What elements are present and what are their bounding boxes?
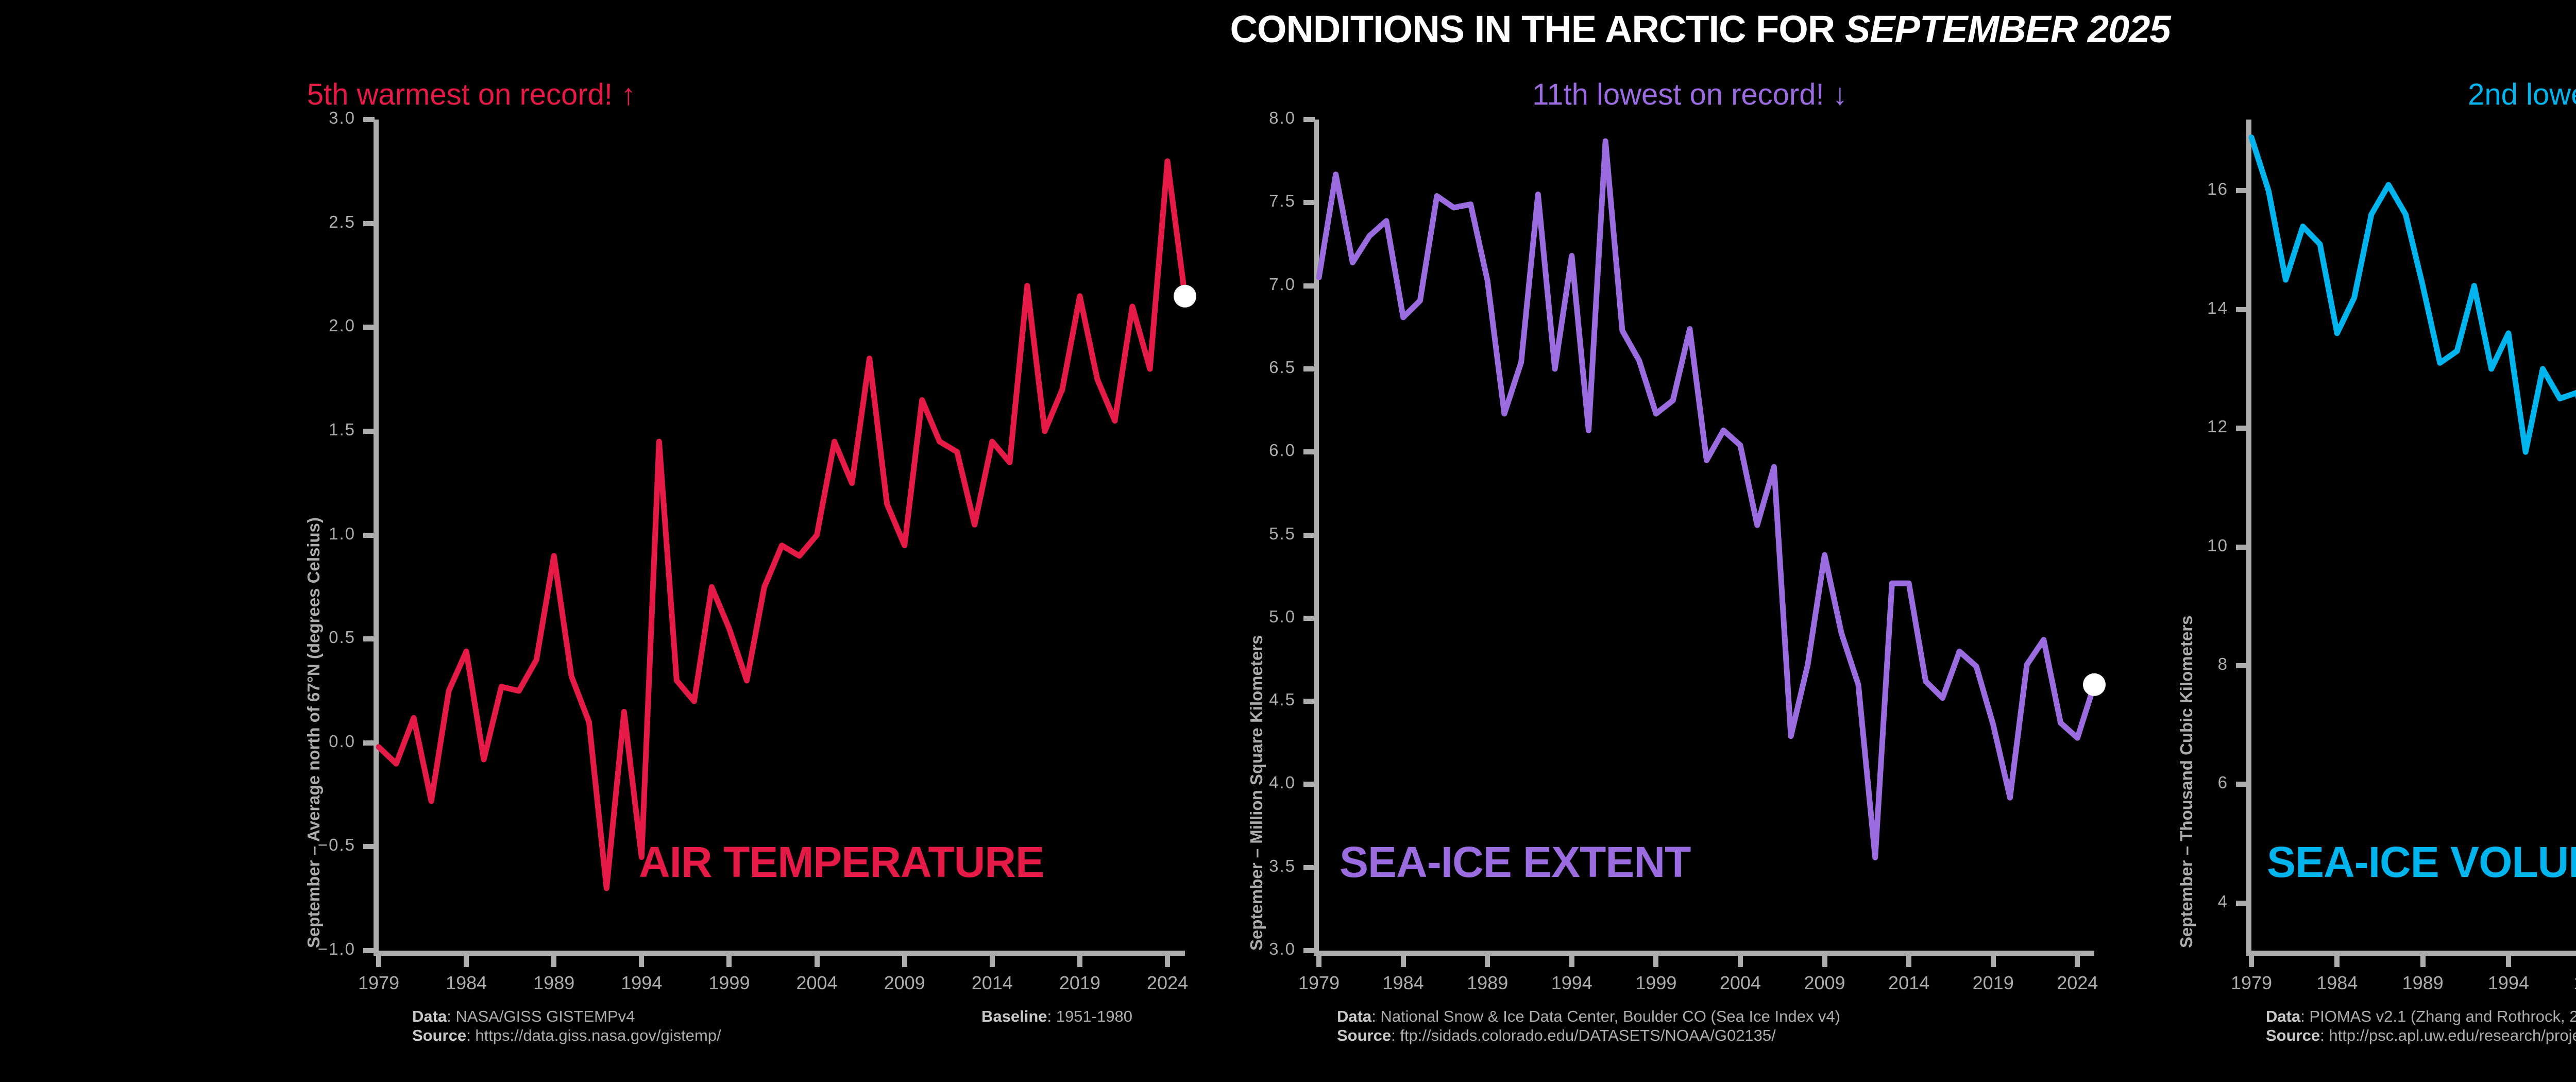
x-tick-air-temperature — [464, 956, 469, 967]
y-tick-sea-ice-extent — [1303, 366, 1315, 371]
x-tick-sea-ice-volume — [2506, 956, 2511, 967]
x-tick-label-sea-ice-extent: 1984 — [1357, 972, 1450, 994]
panel-subtitle-sea-ice-extent: 11th lowest on record! ↓ — [1278, 77, 2102, 112]
y-tick-sea-ice-volume — [2236, 307, 2247, 312]
panel-sea-ice-extent: 11th lowest on record! ↓ — [1185, 0, 2112, 1082]
y-tick-label-air-temperature: 0.5 — [250, 628, 355, 647]
footer-source-value-air-temperature[interactable]: : https://data.giss.nasa.gov/gistemp/ — [466, 1026, 721, 1044]
y-tick-air-temperature — [363, 948, 375, 953]
x-tick-sea-ice-extent — [1401, 956, 1406, 967]
x-tick-label-sea-ice-volume: 1994 — [2462, 972, 2555, 994]
y-tick-label-air-temperature: 1.5 — [250, 420, 355, 439]
y-tick-label-sea-ice-volume: 16 — [2123, 179, 2228, 199]
panel-subtitle-sea-ice-volume: 2nd lowest on record! ↓ — [2205, 77, 2576, 112]
y-tick-label-air-temperature: 2.0 — [250, 316, 355, 335]
footer-data-value-sea-ice-volume: : PIOMAS v2.1 (Zhang and Rothrock, 2003;… — [2300, 1007, 2576, 1025]
x-tick-label-air-temperature: 1999 — [683, 972, 775, 994]
footer-source-label-sea-ice-volume: Source — [2266, 1026, 2320, 1044]
y-tick-air-temperature — [363, 740, 375, 746]
y-axis-label-sea-ice-extent: September – Million Square Kilometers — [1247, 635, 1266, 951]
y-tick-label-sea-ice-volume: 12 — [2123, 417, 2228, 436]
x-tick-air-temperature — [376, 956, 381, 967]
footer-data-label-sea-ice-volume: Data — [2266, 1007, 2300, 1025]
x-tick-label-sea-ice-extent: 1989 — [1441, 972, 1534, 994]
panel-air-temperature: 5th warmest on record! ↑ — [0, 0, 1185, 1082]
visualization-root: CONDITIONS IN THE ARCTIC FOR SEPTEMBER 2… — [0, 0, 2576, 1082]
footer-data-line-air-temperature: Data: NASA/GISS GISTEMPv4 — [412, 1007, 721, 1026]
y-tick-sea-ice-extent — [1303, 449, 1315, 454]
y-tick-sea-ice-volume — [2236, 188, 2247, 193]
x-tick-label-sea-ice-volume: 1979 — [2205, 972, 2298, 994]
x-tick-air-temperature — [815, 956, 820, 967]
x-tick-sea-ice-extent — [1738, 956, 1743, 967]
x-tick-label-sea-ice-volume: 1999 — [2548, 972, 2576, 994]
x-tick-air-temperature — [551, 956, 556, 967]
footer-source-line-sea-ice-volume: Source: http://psc.apl.uw.edu/research/p… — [2266, 1026, 2576, 1045]
y-tick-label-sea-ice-extent: 4.5 — [1190, 690, 1296, 709]
x-tick-label-air-temperature: 2019 — [1033, 972, 1126, 994]
y-tick-sea-ice-extent — [1303, 865, 1315, 870]
y-tick-sea-ice-volume — [2236, 901, 2247, 906]
x-axis-spine-sea-ice-volume — [2246, 951, 2576, 956]
x-tick-label-air-temperature: 1994 — [595, 972, 688, 994]
y-axis-label-air-temperature: September – Average north of 67°N (degre… — [304, 517, 324, 948]
x-tick-sea-ice-extent — [2075, 956, 2080, 967]
x-tick-label-sea-ice-extent: 2024 — [2031, 972, 2124, 994]
x-tick-label-air-temperature: 2024 — [1121, 972, 1214, 994]
y-tick-sea-ice-volume — [2236, 782, 2247, 787]
footer-source-value-sea-ice-extent[interactable]: : ftp://sidads.colorado.edu/DATASETS/NOA… — [1391, 1026, 1776, 1044]
x-tick-label-sea-ice-extent: 1994 — [1526, 972, 1618, 994]
x-tick-label-air-temperature: 2004 — [771, 972, 863, 994]
x-tick-label-air-temperature: 1979 — [332, 972, 425, 994]
y-tick-label-sea-ice-extent: 6.0 — [1190, 441, 1296, 460]
x-tick-sea-ice-extent — [1822, 956, 1827, 967]
x-axis-spine-air-temperature — [374, 951, 1185, 956]
x-tick-air-temperature — [639, 956, 644, 967]
y-axis-spine-sea-ice-volume — [2246, 120, 2251, 956]
y-tick-air-temperature — [363, 844, 375, 849]
y-tick-label-air-temperature: −1.0 — [250, 939, 355, 959]
x-tick-sea-ice-extent — [1906, 956, 1911, 967]
y-tick-sea-ice-volume — [2236, 663, 2247, 668]
y-tick-label-air-temperature: 3.0 — [250, 108, 355, 128]
y-tick-label-sea-ice-volume: 4 — [2123, 892, 2228, 911]
x-tick-sea-ice-extent — [1991, 956, 1996, 967]
y-tick-label-sea-ice-extent: 3.0 — [1190, 939, 1296, 959]
y-tick-label-air-temperature: 2.5 — [250, 212, 355, 232]
footer-source-line-air-temperature: Source: https://data.giss.nasa.gov/giste… — [412, 1026, 721, 1045]
baseline-note: Baseline: 1951-1980 — [981, 1007, 1132, 1026]
panel-subtitle-air-temperature: 5th warmest on record! ↑ — [67, 77, 876, 112]
panel-tag-sea-ice-extent: SEA-ICE EXTENT — [1340, 837, 1690, 887]
y-tick-label-sea-ice-extent: 5.5 — [1190, 524, 1296, 544]
y-tick-air-temperature — [363, 636, 375, 641]
x-tick-label-air-temperature: 1989 — [507, 972, 600, 994]
y-tick-sea-ice-extent — [1303, 616, 1315, 621]
footer-data-label-air-temperature: Data — [412, 1007, 447, 1025]
baseline-value: : 1951-1980 — [1047, 1007, 1132, 1025]
y-axis-label-sea-ice-volume: September – Thousand Cubic Kilometers — [2177, 616, 2196, 948]
x-tick-label-sea-ice-extent: 1999 — [1609, 972, 1702, 994]
x-tick-sea-ice-extent — [1569, 956, 1574, 967]
x-tick-air-temperature — [1165, 956, 1170, 967]
x-tick-label-air-temperature: 2009 — [858, 972, 951, 994]
y-tick-label-air-temperature: 1.0 — [250, 524, 355, 544]
y-tick-label-air-temperature: −0.5 — [250, 835, 355, 855]
footer-source-label-sea-ice-extent: Source — [1337, 1026, 1391, 1044]
y-axis-spine-air-temperature — [374, 120, 379, 956]
x-tick-air-temperature — [990, 956, 995, 967]
y-axis-spine-sea-ice-extent — [1314, 120, 1319, 956]
x-tick-label-sea-ice-volume: 1989 — [2377, 972, 2469, 994]
footer-data-line-sea-ice-extent: Data: National Snow & Ice Data Center, B… — [1337, 1007, 1840, 1026]
y-tick-sea-ice-volume — [2236, 545, 2247, 550]
baseline-label: Baseline — [981, 1007, 1047, 1025]
y-tick-sea-ice-extent — [1303, 699, 1315, 704]
y-tick-sea-ice-extent — [1303, 533, 1315, 538]
footer-air-temperature: Data: NASA/GISS GISTEMPv4Source: https:/… — [412, 1007, 721, 1045]
footer-data-value-sea-ice-extent: : National Snow & Ice Data Center, Bould… — [1371, 1007, 1840, 1025]
y-tick-sea-ice-extent — [1303, 200, 1315, 205]
footer-sea-ice-extent: Data: National Snow & Ice Data Center, B… — [1337, 1007, 1840, 1045]
x-tick-label-sea-ice-extent: 2009 — [1778, 972, 1871, 994]
x-tick-label-sea-ice-extent: 2019 — [1947, 972, 2040, 994]
x-tick-label-air-temperature: 2014 — [946, 972, 1039, 994]
y-tick-sea-ice-extent — [1303, 782, 1315, 787]
y-tick-label-sea-ice-volume: 14 — [2123, 298, 2228, 318]
y-tick-air-temperature — [363, 533, 375, 538]
x-tick-air-temperature — [726, 956, 732, 967]
y-tick-sea-ice-volume — [2236, 426, 2247, 431]
y-tick-air-temperature — [363, 117, 375, 122]
footer-data-label-sea-ice-extent: Data — [1337, 1007, 1371, 1025]
panel-tag-sea-ice-volume: SEA-ICE VOLUME — [2267, 837, 2576, 887]
footer-source-line-sea-ice-extent: Source: ftp://sidads.colorado.edu/DATASE… — [1337, 1026, 1840, 1045]
y-tick-label-sea-ice-volume: 6 — [2123, 773, 2228, 792]
y-tick-label-air-temperature: 0.0 — [250, 732, 355, 751]
y-tick-label-sea-ice-extent: 4.0 — [1190, 773, 1296, 792]
y-tick-air-temperature — [363, 429, 375, 434]
x-axis-spine-sea-ice-extent — [1314, 951, 2094, 956]
y-tick-label-sea-ice-extent: 8.0 — [1190, 108, 1296, 128]
footer-sea-ice-volume: Data: PIOMAS v2.1 (Zhang and Rothrock, 2… — [2266, 1007, 2576, 1045]
x-tick-sea-ice-volume — [2420, 956, 2426, 967]
y-tick-label-sea-ice-extent: 6.5 — [1190, 358, 1296, 377]
x-tick-sea-ice-extent — [1653, 956, 1658, 967]
y-tick-label-sea-ice-extent: 3.5 — [1190, 856, 1296, 876]
x-tick-label-sea-ice-extent: 2014 — [1862, 972, 1955, 994]
y-tick-sea-ice-extent — [1303, 283, 1315, 289]
x-tick-air-temperature — [1077, 956, 1082, 967]
panel-tag-air-temperature: AIR TEMPERATURE — [639, 837, 1044, 887]
x-tick-sea-ice-volume — [2249, 956, 2254, 967]
x-tick-sea-ice-extent — [1485, 956, 1490, 967]
y-tick-label-sea-ice-extent: 5.0 — [1190, 607, 1296, 627]
footer-data-line-sea-ice-volume: Data: PIOMAS v2.1 (Zhang and Rothrock, 2… — [2266, 1007, 2576, 1026]
y-tick-label-sea-ice-volume: 8 — [2123, 654, 2228, 674]
y-tick-label-sea-ice-volume: 10 — [2123, 536, 2228, 555]
footer-source-label-air-temperature: Source — [412, 1026, 466, 1044]
x-tick-label-sea-ice-extent: 2004 — [1694, 972, 1787, 994]
x-tick-air-temperature — [902, 956, 907, 967]
footer-data-value-air-temperature: : NASA/GISS GISTEMPv4 — [447, 1007, 635, 1025]
x-tick-label-air-temperature: 1984 — [420, 972, 513, 994]
x-tick-sea-ice-volume — [2334, 956, 2340, 967]
y-tick-sea-ice-extent — [1303, 117, 1315, 122]
y-tick-air-temperature — [363, 325, 375, 330]
x-tick-label-sea-ice-volume: 1984 — [2291, 972, 2383, 994]
x-tick-label-sea-ice-extent: 1979 — [1273, 972, 1365, 994]
y-tick-label-sea-ice-extent: 7.5 — [1190, 191, 1296, 211]
x-tick-sea-ice-extent — [1316, 956, 1321, 967]
footer-source-value-sea-ice-volume[interactable]: : http://psc.apl.uw.edu/research/project… — [2320, 1026, 2576, 1044]
y-tick-air-temperature — [363, 221, 375, 226]
y-tick-label-sea-ice-extent: 7.0 — [1190, 275, 1296, 294]
y-tick-sea-ice-extent — [1303, 948, 1315, 953]
